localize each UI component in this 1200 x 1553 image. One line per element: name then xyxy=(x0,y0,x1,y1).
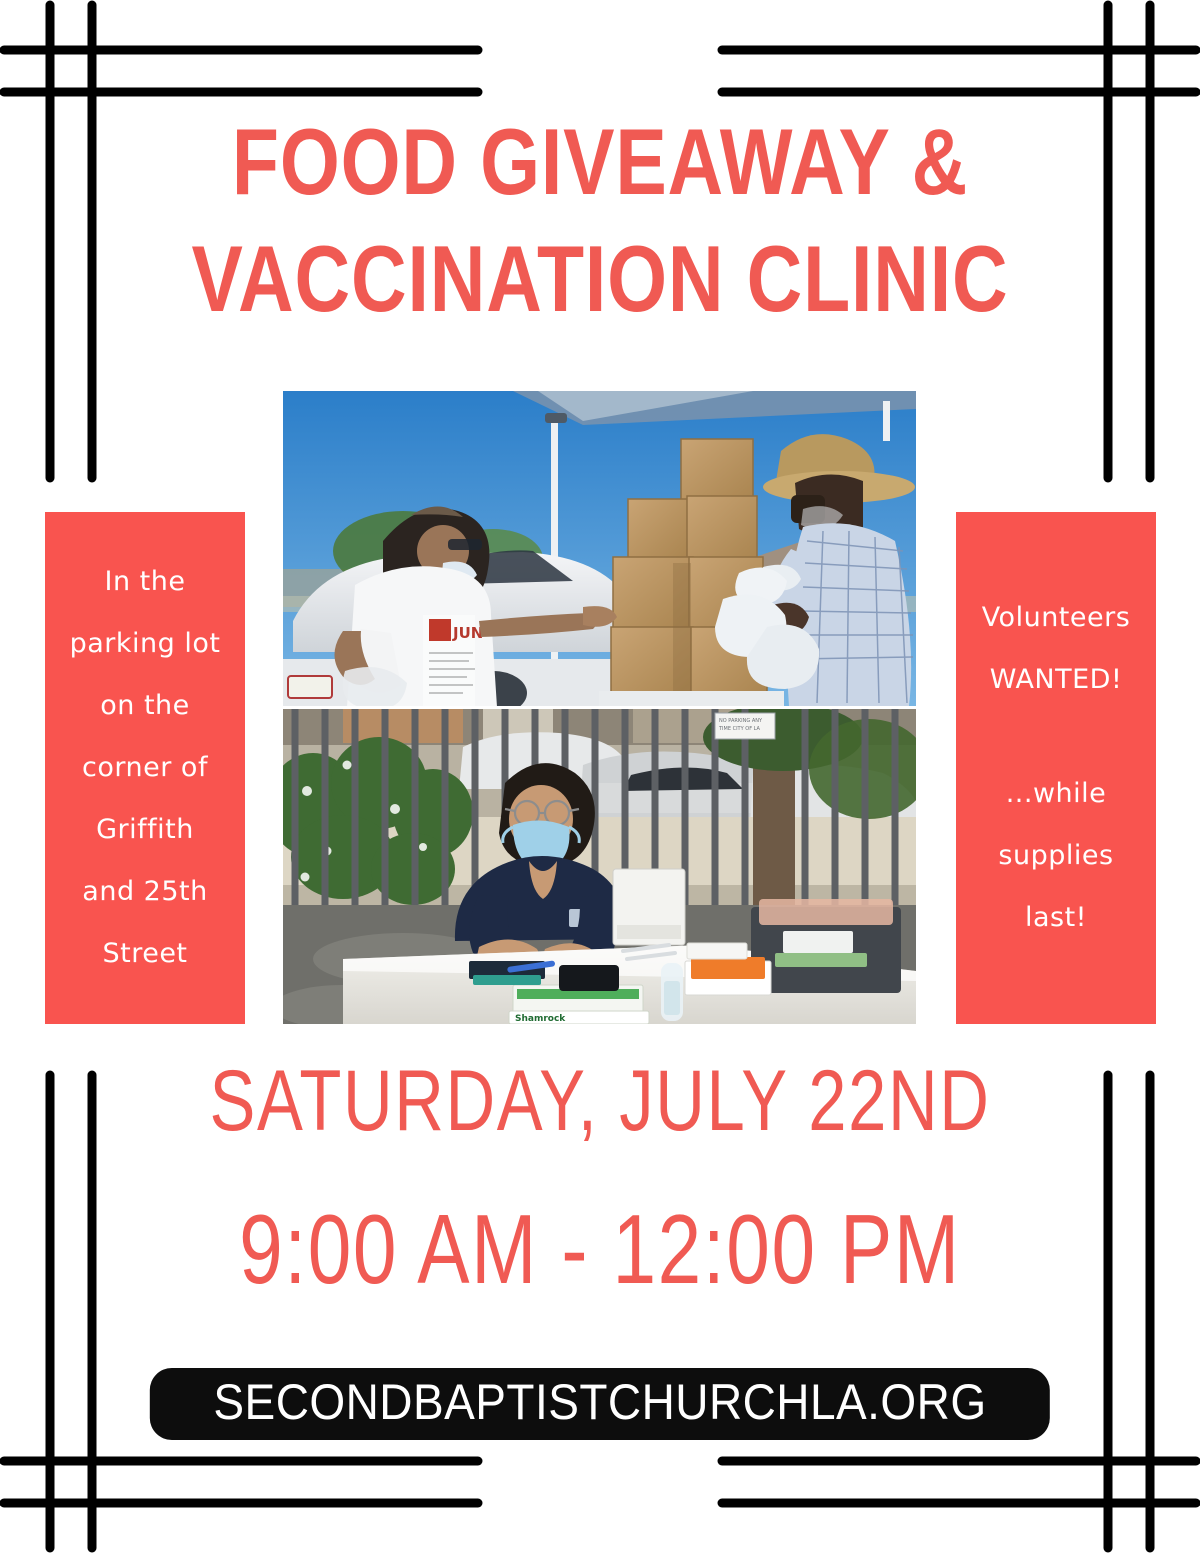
flyer-canvas: FOOD GIVEAWAY & VACCINATION CLINIC xyxy=(0,0,1200,1553)
location-line: In the xyxy=(51,551,239,613)
volunteer-line: supplies xyxy=(962,825,1150,887)
volunteer-spacer xyxy=(962,711,1150,763)
website-url-pill[interactable]: SECONDBAPTISTCHURCHLA.ORG xyxy=(150,1368,1050,1440)
volunteer-line: Volunteers xyxy=(962,587,1150,649)
volunteer-line: last! xyxy=(962,887,1150,949)
headline-line-1: FOOD GIVEAWAY & xyxy=(108,104,1092,221)
svg-text:Shamrock: Shamrock xyxy=(515,1014,566,1024)
svg-text:JUN: JUN xyxy=(452,624,483,642)
location-line: and 25th xyxy=(51,861,239,923)
location-line: parking lot xyxy=(51,613,239,675)
website-url-label: SECONDBAPTISTCHURCHLA.ORG xyxy=(213,1377,986,1427)
vaccination-station-photo: NO PARKING ANY TIME CITY OF LA xyxy=(283,709,916,1024)
svg-text:TIME CITY OF LA: TIME CITY OF LA xyxy=(718,726,761,732)
location-line: on the xyxy=(51,675,239,737)
location-line: Griffith xyxy=(51,799,239,861)
volunteer-line: ...while xyxy=(962,763,1150,825)
svg-text:NO PARKING ANY: NO PARKING ANY xyxy=(719,718,763,724)
location-line: Street xyxy=(51,923,239,985)
location-line: corner of xyxy=(51,737,239,799)
event-date: SATURDAY, JULY 22ND xyxy=(120,1056,1080,1146)
headline-line-2: VACCINATION CLINIC xyxy=(108,221,1092,338)
page-title: FOOD GIVEAWAY & VACCINATION CLINIC xyxy=(0,104,1200,337)
event-time: 9:00 AM - 12:00 PM xyxy=(120,1198,1080,1301)
location-panel: In the parking lot on the corner of Grif… xyxy=(45,512,245,1024)
volunteer-line: WANTED! xyxy=(962,649,1150,711)
food-distribution-photo: JUN xyxy=(283,391,916,706)
event-datetime: SATURDAY, JULY 22ND 9:00 AM - 12:00 PM xyxy=(0,1056,1200,1301)
volunteer-panel: Volunteers WANTED! ...while supplies las… xyxy=(956,512,1156,1024)
photo-collage: JUN xyxy=(283,391,916,1024)
